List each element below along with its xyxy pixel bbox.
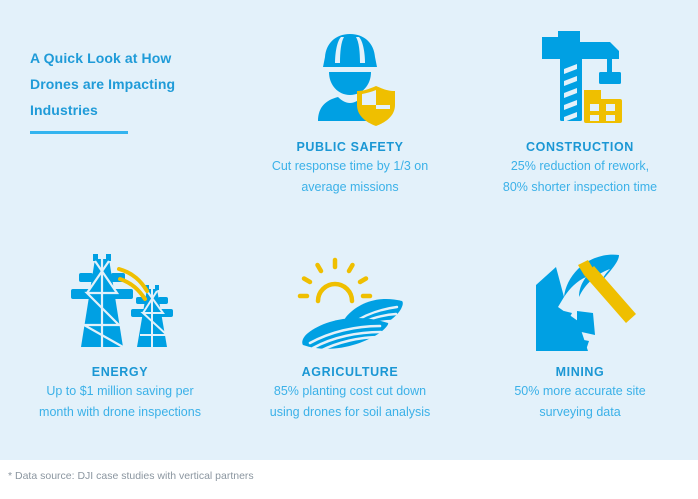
page-title-line-3: Industries — [30, 97, 230, 123]
card-desc-line-1: 85% planting cost cut down — [235, 382, 465, 400]
card-desc-line-1: 25% reduction of rework, — [465, 157, 695, 175]
card-heading: AGRICULTURE — [235, 365, 465, 379]
card-desc-line-2: surveying data — [465, 403, 695, 421]
pickaxe-rock-icon — [465, 245, 695, 353]
card-desc-line-1: Up to $1 million saving per — [5, 382, 235, 400]
power-pylons-icon — [5, 245, 235, 353]
worker-shield-icon — [235, 20, 465, 128]
page-title: A Quick Look at How Drones are Impacting… — [30, 45, 230, 123]
title-divider — [30, 131, 128, 134]
page-title-line-2: Drones are Impacting — [30, 71, 230, 97]
card-heading: CONSTRUCTION — [465, 140, 695, 154]
infographic-canvas: A Quick Look at How Drones are Impacting… — [0, 0, 698, 499]
page-title-line-1: A Quick Look at How — [30, 45, 230, 71]
card-desc-line-2: 80% shorter inspection time — [465, 178, 695, 196]
sun-fields-icon — [235, 245, 465, 353]
card-desc-line-1: Cut response time by 1/3 on — [235, 157, 465, 175]
card-heading: MINING — [465, 365, 695, 379]
card-energy: ENERGY Up to $1 million saving per month… — [5, 245, 235, 421]
card-mining: MINING 50% more accurate site surveying … — [465, 245, 695, 421]
card-construction: CONSTRUCTION 25% reduction of rework, 80… — [465, 20, 695, 196]
crane-building-icon — [465, 20, 695, 128]
card-agriculture: AGRICULTURE 85% planting cost cut down u… — [235, 245, 465, 421]
card-desc-line-2: using drones for soil analysis — [235, 403, 465, 421]
card-desc-line-2: month with drone inspections — [5, 403, 235, 421]
card-desc-line-1: 50% more accurate site — [465, 382, 695, 400]
card-heading: ENERGY — [5, 365, 235, 379]
card-public-safety: PUBLIC SAFETY Cut response time by 1/3 o… — [235, 20, 465, 196]
card-desc-line-2: average missions — [235, 178, 465, 196]
data-source-footnote: * Data source: DJI case studies with ver… — [8, 470, 254, 482]
card-heading: PUBLIC SAFETY — [235, 140, 465, 154]
